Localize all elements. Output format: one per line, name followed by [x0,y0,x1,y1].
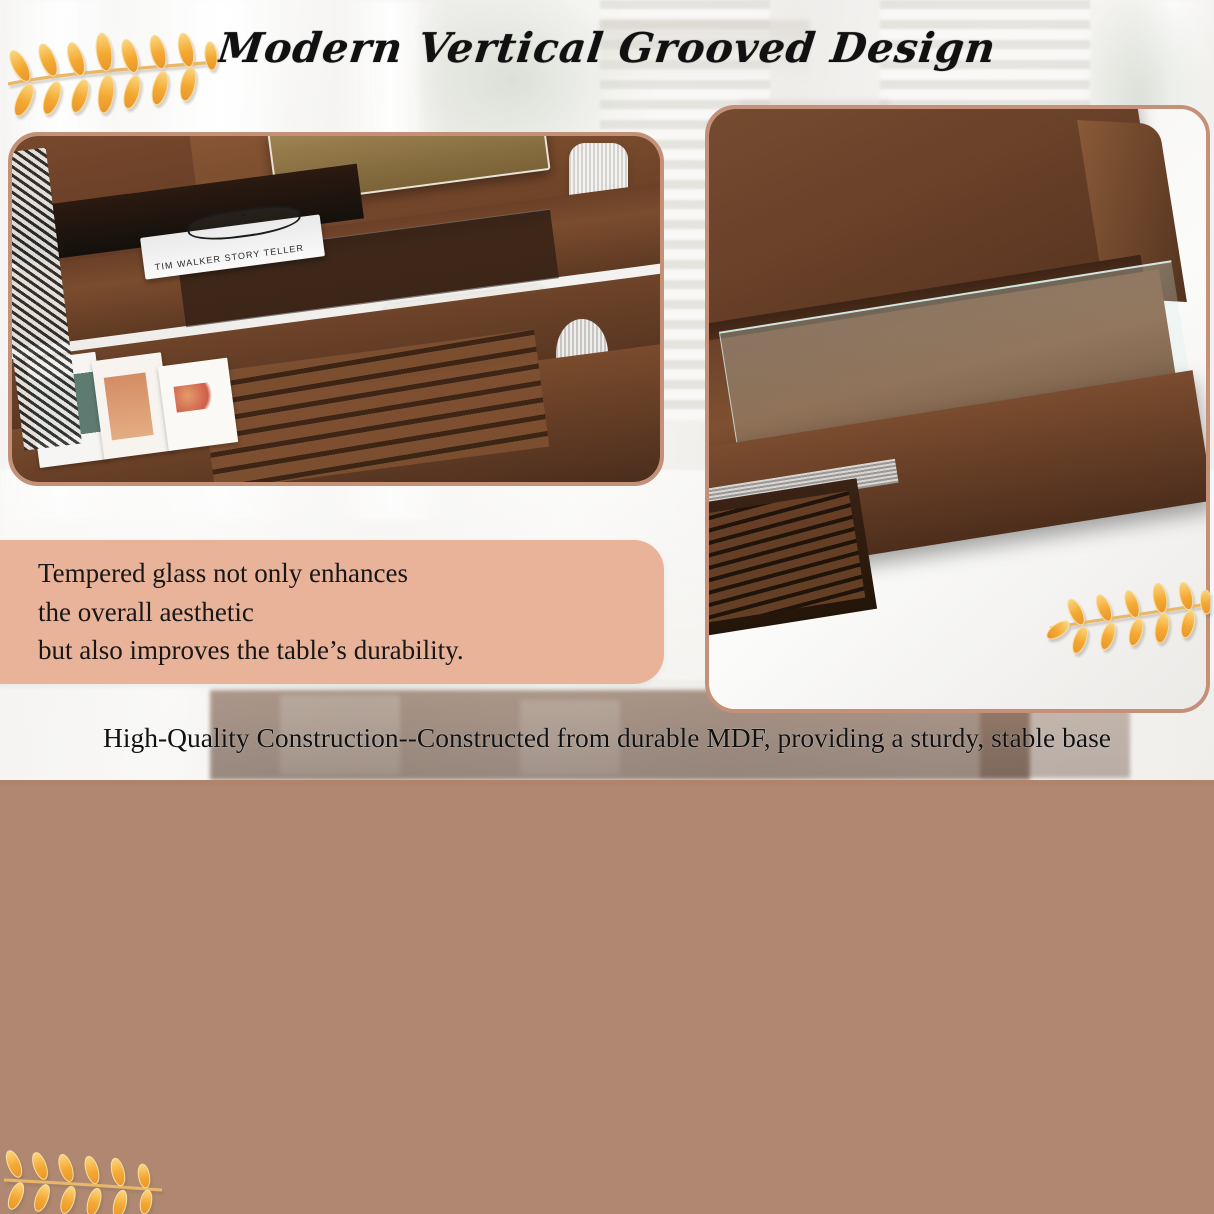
laurel-branch-icon [6,26,218,122]
laurel-branch-icon [1046,580,1210,658]
laurel-branch-icon [4,1146,164,1214]
storage-detail-photo: TIM WALKER STORY TELLER [8,132,664,486]
construction-band: High-Quality Construction--Constructed f… [0,690,1214,785]
callout-line-2: the overall aesthetic [38,593,664,632]
callout-line-3: but also improves the table’s durability… [38,631,664,670]
product-infographic: Modern Vertical Grooved Design [0,0,1214,1214]
bottom-section [0,786,1214,1214]
tempered-glass-callout: Tempered glass not only enhances the ove… [0,540,664,684]
construction-text: High-Quality Construction--Constructed f… [103,722,1111,754]
section-divider [0,780,1214,786]
callout-line-1: Tempered glass not only enhances [38,554,664,593]
